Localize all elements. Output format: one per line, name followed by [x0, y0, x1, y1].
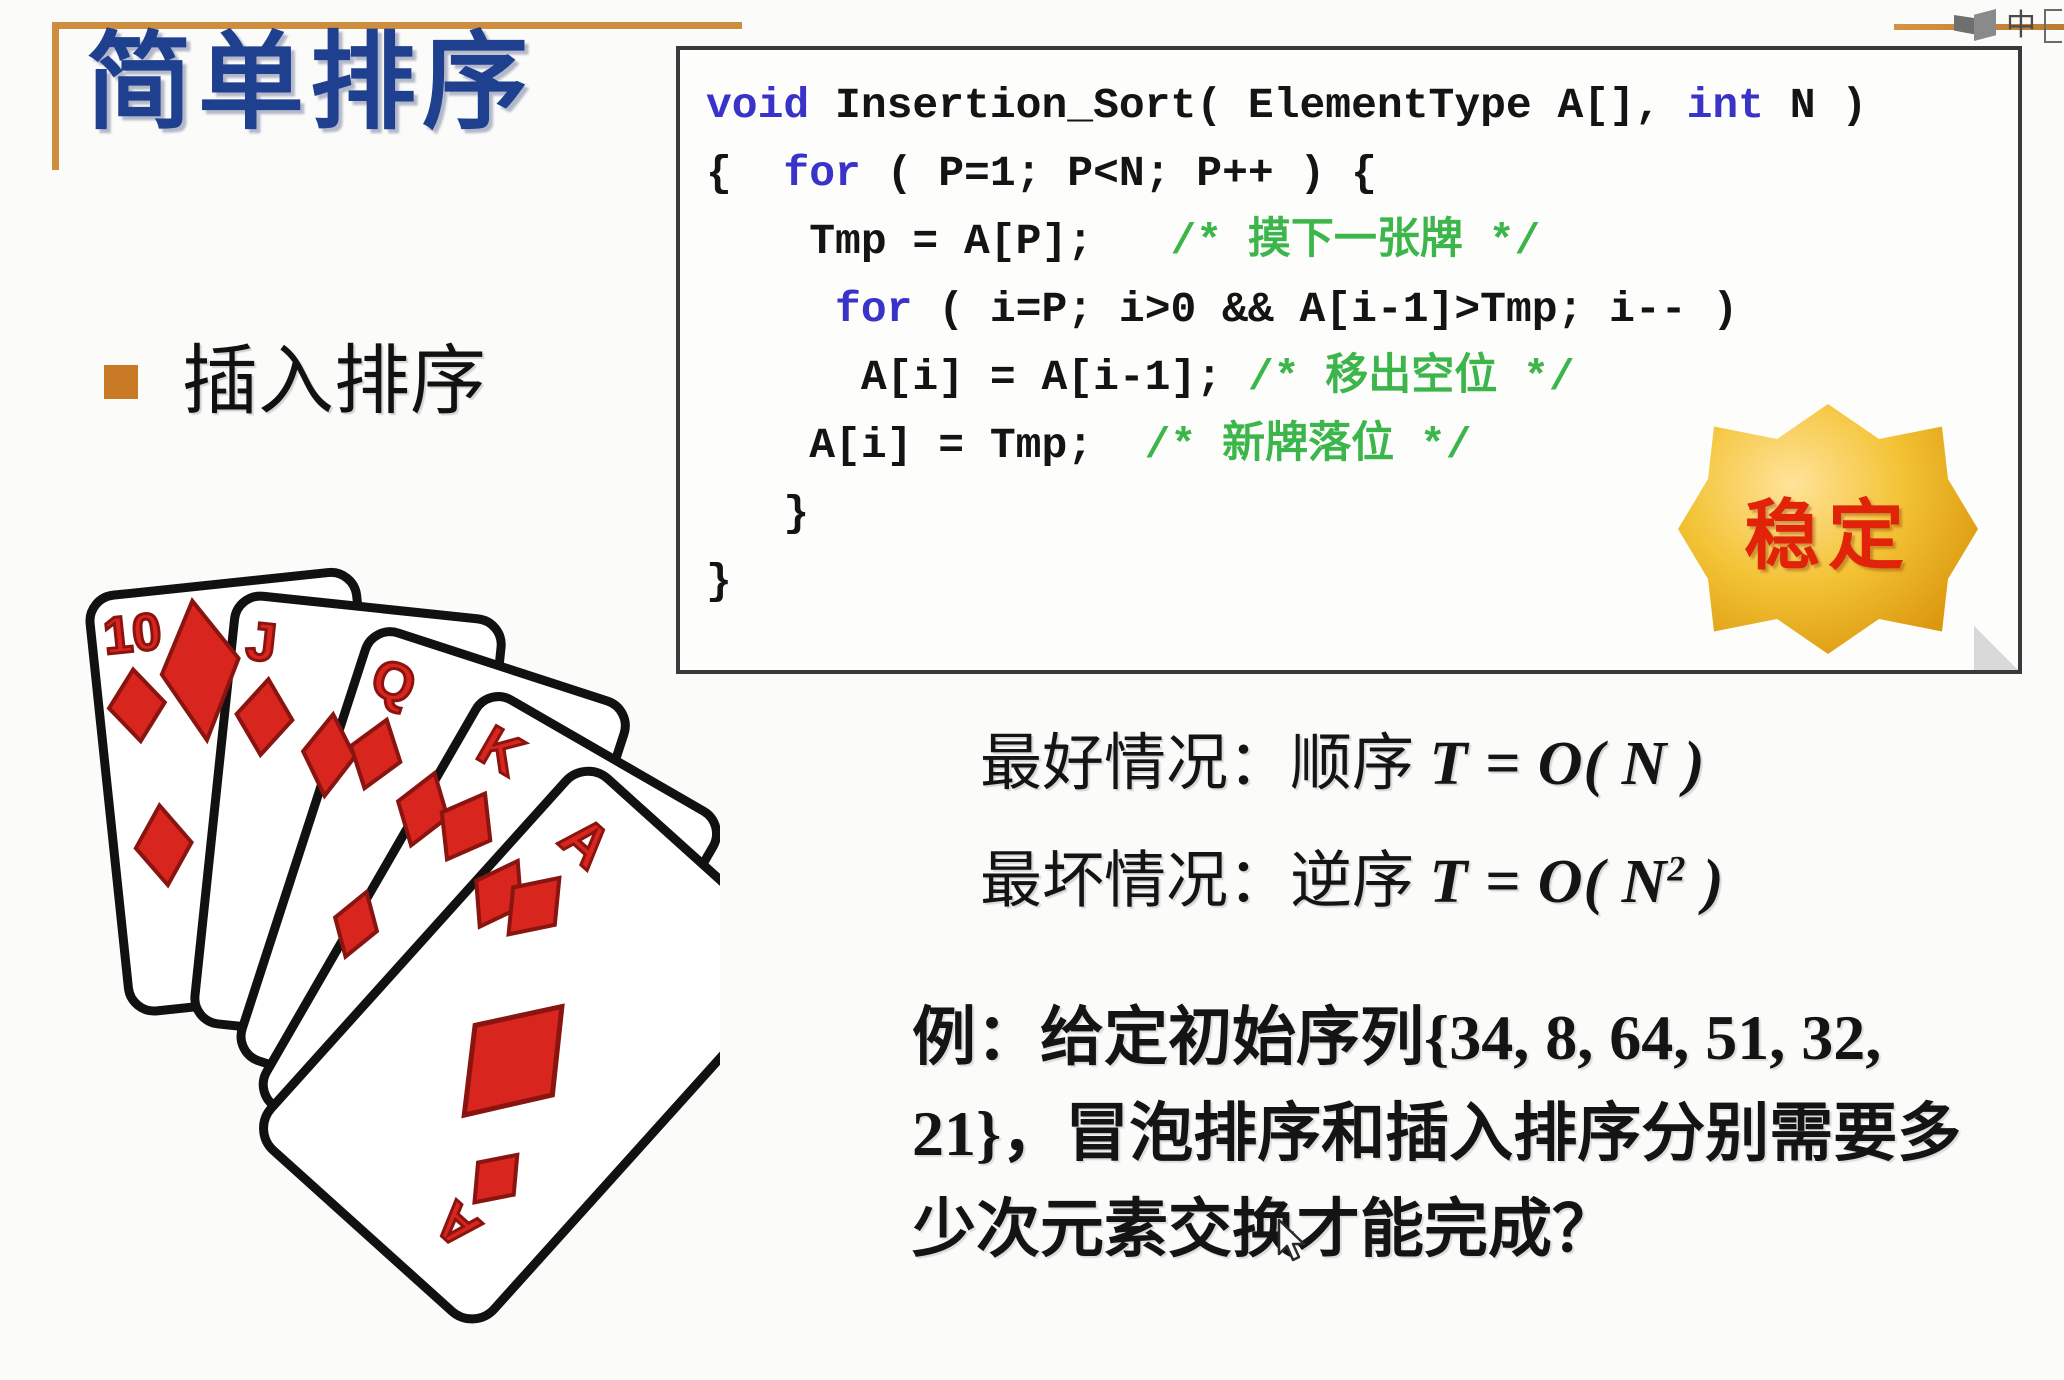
- code-comment: /* 新牌落位 */: [1145, 421, 1472, 470]
- page-title: 简单排序: [86, 22, 534, 146]
- complexity-worst-base: T = O( N: [1430, 848, 1668, 916]
- code-keyword: for: [783, 149, 860, 198]
- complexity-best-formula: T = O( N ): [1430, 730, 1706, 798]
- code-text: {: [706, 149, 783, 198]
- code-keyword: void: [706, 81, 809, 130]
- playing-cards-illustration: 10 J Q: [80, 540, 720, 1380]
- bullet-square-icon: [104, 365, 138, 399]
- complexity-notes: 最好情况：顺序 T = O( N ) 最坏情况：逆序 T = O( N2 ): [980, 712, 1725, 934]
- complexity-worst-formula: T = O( N2 ): [1430, 848, 1725, 916]
- ime-language-label[interactable]: 中: [2006, 11, 2036, 41]
- complexity-best-prefix: 最好情况：顺序: [980, 730, 1430, 798]
- code-line: A[i] = A[i-1]; /* 移出空位 */: [706, 344, 2008, 412]
- code-text: A[i] = A[i-1];: [706, 353, 1248, 402]
- svg-text:J: J: [243, 611, 279, 674]
- slide-canvas: 简单排序 中 插入排序 void Insertion_Sort( Element…: [0, 0, 2064, 1380]
- code-box-folded-corner: [1974, 626, 2018, 670]
- code-keyword: for: [835, 285, 912, 334]
- code-comment: /* 移出空位 */: [1248, 353, 1575, 402]
- code-line: Tmp = A[P]; /* 摸下一张牌 */: [706, 208, 2008, 276]
- status-badge-label: 稳定: [1678, 404, 1978, 654]
- svg-text:10: 10: [101, 603, 165, 667]
- code-text: [706, 285, 835, 334]
- complexity-best-case: 最好情况：顺序 T = O( N ): [980, 712, 1725, 816]
- code-line: void Insertion_Sort( ElementType A[], in…: [706, 72, 2008, 140]
- code-comment: /* 摸下一张牌 */: [1170, 217, 1540, 266]
- code-line: for ( i=P; i>0 && A[i-1]>Tmp; i-- ): [706, 276, 2008, 344]
- bullet-item-label: 插入排序: [182, 340, 486, 424]
- complexity-worst-tail: ): [1686, 848, 1724, 916]
- code-text: A[i] = Tmp;: [706, 421, 1145, 470]
- status-badge-stable: 稳定: [1678, 404, 1978, 654]
- code-text: Insertion_Sort( ElementType A[],: [809, 81, 1686, 130]
- code-text: }: [706, 489, 809, 538]
- code-keyword: int: [1687, 81, 1764, 130]
- code-text: N ): [1764, 81, 1867, 130]
- ime-flag-icon: [1954, 9, 1998, 43]
- complexity-worst-exponent: 2: [1667, 848, 1686, 888]
- code-text: ( P=1; P<N; P++ ) {: [861, 149, 1377, 198]
- ime-indicator[interactable]: 中: [1954, 0, 2064, 52]
- example-question: 例：给定初始序列{34, 8, 64, 51, 32, 21}，冒泡排序和插入排…: [912, 990, 1972, 1278]
- code-line: { for ( P=1; P<N; P++ ) {: [706, 140, 2008, 208]
- bullet-item-insertion-sort: 插入排序: [104, 340, 486, 424]
- ime-panel-icon: [2044, 9, 2062, 43]
- code-text: Tmp = A[P];: [706, 217, 1170, 266]
- code-text: ( i=P; i>0 && A[i-1]>Tmp; i-- ): [912, 285, 1738, 334]
- complexity-worst-prefix: 最坏情况：逆序: [980, 848, 1430, 916]
- complexity-worst-case: 最坏情况：逆序 T = O( N2 ): [980, 816, 1725, 934]
